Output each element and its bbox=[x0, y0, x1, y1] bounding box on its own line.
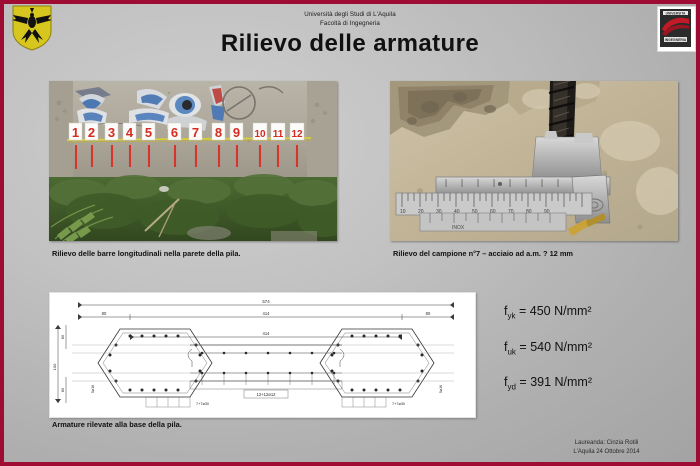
svg-text:2: 2 bbox=[88, 125, 95, 140]
formula-fuk-subscript: uk bbox=[507, 347, 515, 356]
formula-fuk: fuk = 540 N/mm² bbox=[504, 340, 694, 357]
formula-fyk-subscript: yk bbox=[507, 312, 515, 321]
caption-right-photo: Rilievo del campione n°7 – acciaio ad a.… bbox=[393, 249, 573, 258]
svg-text:9: 9 bbox=[233, 125, 240, 140]
dim-left-segment: 80 bbox=[102, 311, 107, 316]
footer-place-date: L'Aquila 24 Ottobre 2014 bbox=[524, 448, 689, 457]
formula-fyd-value: = 391 N/mm² bbox=[519, 375, 592, 389]
engineering-faculty-logo: UNIVERSITA INGEGNERIA bbox=[657, 6, 696, 52]
caption-drawing: Armature rilevate alla base della pila. bbox=[52, 420, 182, 429]
reinforcement-section-drawing: 574 80 414 80 414 bbox=[49, 292, 476, 418]
photo-rebar-caliper-measurement: 102030 405060 708090 INOX bbox=[390, 81, 678, 241]
university-name: Università degli Studi di L'Aquila bbox=[4, 10, 696, 19]
label-left-edge: 5ø16 bbox=[91, 385, 95, 393]
svg-text:10: 10 bbox=[254, 129, 266, 140]
label-stirrup-right: 7+7ø30 bbox=[392, 402, 405, 406]
dim-right-segment: 80 bbox=[426, 311, 431, 316]
svg-text:1: 1 bbox=[72, 125, 79, 140]
engineering-logo-text: INGEGNERIA bbox=[665, 38, 687, 42]
faculty-name: Facoltà di Ingegneria bbox=[4, 19, 696, 28]
label-bar-callout: 12+12ø12 bbox=[257, 392, 277, 397]
label-right-edge: 5ø16 bbox=[439, 385, 443, 393]
dim-inner-span: 414 bbox=[263, 331, 271, 336]
footer-block: Laureanda: Cinzia Rotili L'Aquila 24 Ott… bbox=[524, 439, 689, 457]
formula-fyd: fyd = 391 N/mm² bbox=[504, 375, 694, 392]
slide-canvas: Università degli Studi di L'Aquila Facol… bbox=[4, 4, 696, 462]
header-institution-block: Università degli Studi di L'Aquila Facol… bbox=[4, 10, 696, 28]
material-properties-block: fyk = 450 N/mm² fuk = 540 N/mm² fyd = 39… bbox=[504, 304, 694, 411]
svg-text:12: 12 bbox=[291, 129, 303, 140]
svg-text:INOX: INOX bbox=[452, 225, 465, 231]
footer-author: Laureanda: Cinzia Rotili bbox=[524, 439, 689, 448]
svg-text:11: 11 bbox=[273, 129, 284, 140]
svg-text:UNIVERSITA: UNIVERSITA bbox=[666, 12, 686, 16]
dim-height-total: 100 bbox=[52, 363, 57, 370]
photo-longitudinal-bars-survey: 1 2 3 4 5 6 7 8 9 10 11 12 bbox=[49, 81, 337, 241]
dim-middle-segment: 414 bbox=[263, 311, 271, 316]
formula-fyd-subscript: yd bbox=[507, 383, 515, 392]
svg-text:7: 7 bbox=[192, 125, 199, 140]
svg-text:8: 8 bbox=[215, 125, 222, 140]
dim-height-bottom: 80 bbox=[61, 388, 65, 392]
svg-text:3: 3 bbox=[108, 125, 115, 140]
svg-text:5: 5 bbox=[145, 125, 152, 140]
svg-text:4: 4 bbox=[126, 125, 134, 140]
dim-overall: 574 bbox=[262, 299, 270, 304]
formula-fyk: fyk = 450 N/mm² bbox=[504, 304, 694, 321]
caption-left-photo: Rilievo delle barre longitudinali nella … bbox=[52, 249, 241, 258]
label-stirrup-left: 7+7ø30 bbox=[196, 402, 209, 406]
svg-text:10: 10 bbox=[400, 209, 406, 215]
svg-text:6: 6 bbox=[171, 125, 178, 140]
formula-fyk-value: = 450 N/mm² bbox=[519, 304, 592, 318]
dim-height-top: 80 bbox=[61, 335, 65, 339]
formula-fuk-value: = 540 N/mm² bbox=[519, 340, 592, 354]
page-title: Rilievo delle armature bbox=[4, 30, 696, 58]
